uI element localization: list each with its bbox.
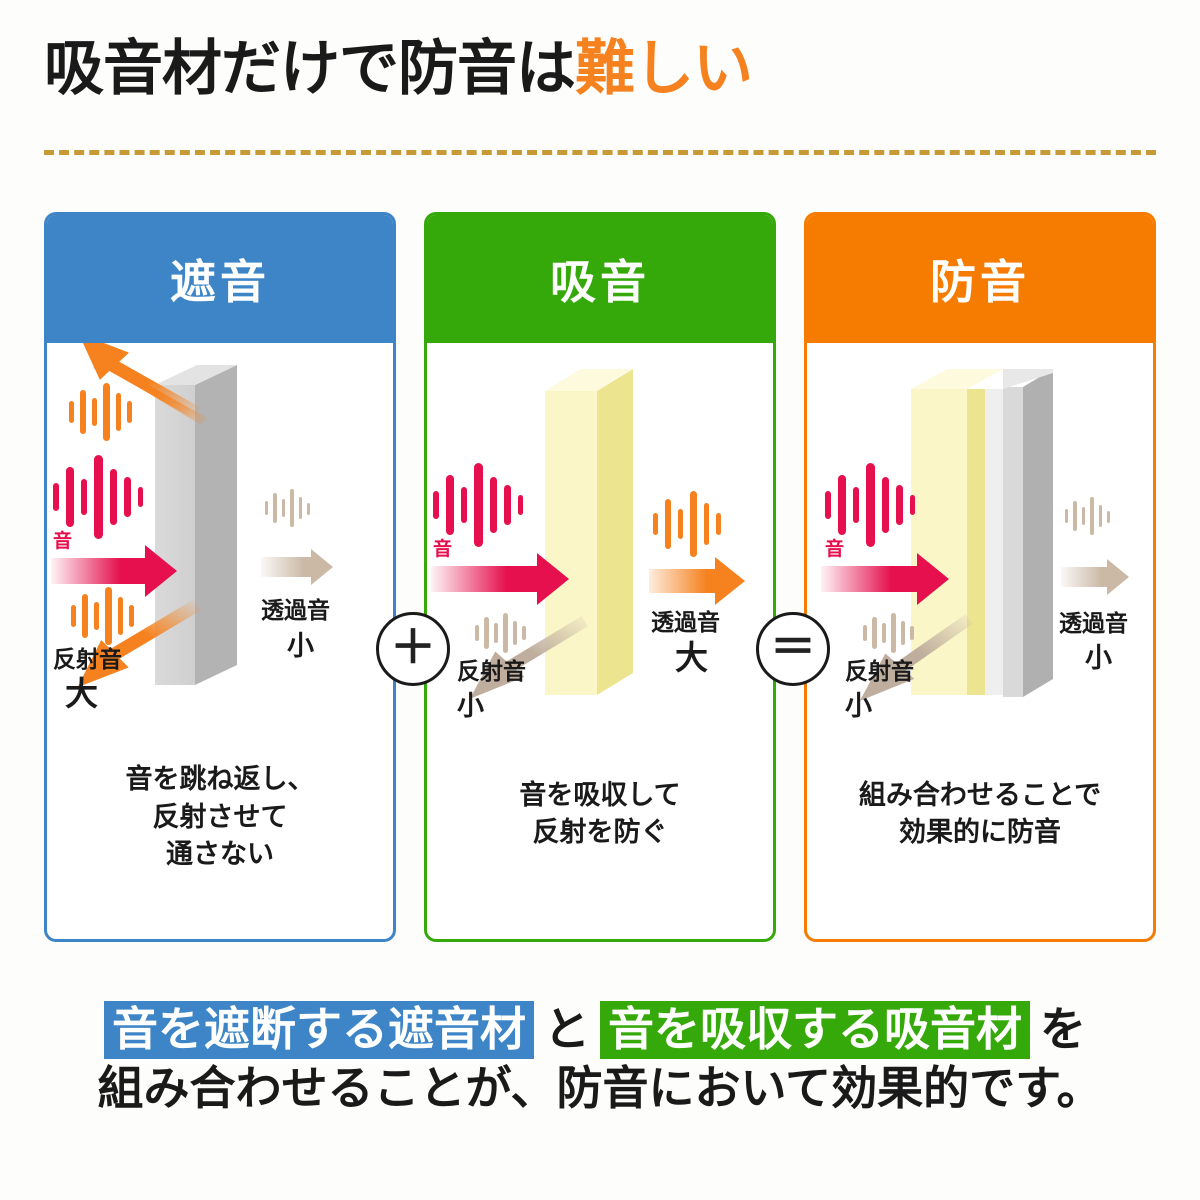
reflected-waveform-up [69, 383, 132, 441]
particle-wo: を [1030, 1003, 1096, 1055]
transmitted-level: 大 [675, 639, 708, 676]
transmitted-arrow [1061, 559, 1129, 595]
caption-line: 音を吸収して [427, 777, 773, 814]
card-caption-boon: 組み合わせることで 効果的に防音 [807, 777, 1153, 852]
highlight-kyuonzai: 音を吸収する吸音材 [600, 1001, 1030, 1059]
transmitted-label: 透過音 [1059, 610, 1128, 636]
transmitted-arrow [649, 557, 745, 605]
page-title: 吸音材だけで防音は難しい [44, 36, 752, 102]
card-body-kyuon: 音 透過音 [427, 343, 773, 939]
reflected-waveform-down [71, 587, 134, 645]
title-divider [44, 150, 1156, 155]
absorber-panel [545, 369, 633, 695]
source-waveform [433, 463, 523, 547]
reflected-level: 小 [457, 691, 484, 721]
operator-equals: ＝ [756, 612, 830, 686]
equals-icon: ＝ [770, 624, 816, 670]
summary-statement: 音を遮断する遮音材と音を吸収する吸音材を 組み合わせることが、防音において効果的… [0, 1000, 1200, 1118]
plus-icon: ＋ [390, 624, 436, 670]
caption-line: 効果的に防音 [807, 814, 1153, 851]
summary-line-2: 組み合わせることが、防音において効果的です。 [0, 1059, 1200, 1118]
highlight-shaonzai: 音を遮断する遮音材 [104, 1001, 534, 1059]
reflected-waveform [863, 613, 914, 653]
conjunction-to: と [534, 1003, 600, 1055]
caption-line: 通さない [47, 836, 393, 873]
reflected-level: 小 [845, 691, 872, 721]
title-lead: 吸音材だけで防音は [44, 35, 575, 102]
card-boon: 防音 [804, 212, 1156, 942]
card-kyuon: 吸音 [424, 212, 776, 942]
card-header-boon: 防音 [807, 215, 1153, 343]
transmitted-level: 小 [287, 631, 314, 661]
source-label: 音 [53, 529, 72, 552]
reflected-label: 反射音 [53, 646, 122, 672]
card-caption-kyuon: 音を吸収して 反射を防ぐ [427, 777, 773, 852]
reflected-label: 反射音 [845, 658, 914, 684]
transmitted-waveform [265, 489, 310, 527]
source-label: 音 [433, 537, 452, 560]
card-body-boon: 音 透過音 [807, 343, 1153, 939]
caption-line: 反射させて [47, 799, 393, 836]
reflected-level: 大 [65, 675, 98, 712]
caption-line: 反射を防ぐ [427, 814, 773, 851]
transmitted-label: 透過音 [261, 597, 330, 623]
transmitted-level: 小 [1085, 643, 1112, 673]
transmitted-waveform [653, 491, 721, 557]
card-body-shaon: 音 [47, 343, 393, 939]
reflected-waveform [475, 613, 526, 653]
transmitted-arrow [261, 549, 333, 585]
infographic-page: 吸音材だけで防音は難しい 遮音 [0, 0, 1200, 1200]
card-caption-shaon: 音を跳ね返し、 反射させて 通さない [47, 761, 393, 873]
title-accent: 難しい [575, 35, 752, 102]
summary-line-1: 音を遮断する遮音材と音を吸収する吸音材を [0, 1000, 1200, 1059]
caption-line: 音を跳ね返し、 [47, 761, 393, 798]
transmitted-waveform [1065, 497, 1110, 535]
card-header-shaon: 遮音 [47, 215, 393, 343]
caption-line: 組み合わせることで [807, 777, 1153, 814]
card-shaon: 遮音 [44, 212, 396, 942]
source-label: 音 [825, 537, 844, 560]
comparison-cards: 遮音 [44, 212, 1156, 942]
operator-plus: ＋ [376, 612, 450, 686]
transmitted-label: 透過音 [651, 609, 720, 635]
reflected-label: 反射音 [457, 658, 526, 684]
source-waveform [53, 455, 143, 539]
source-waveform [825, 463, 915, 547]
card-header-kyuon: 吸音 [427, 215, 773, 343]
